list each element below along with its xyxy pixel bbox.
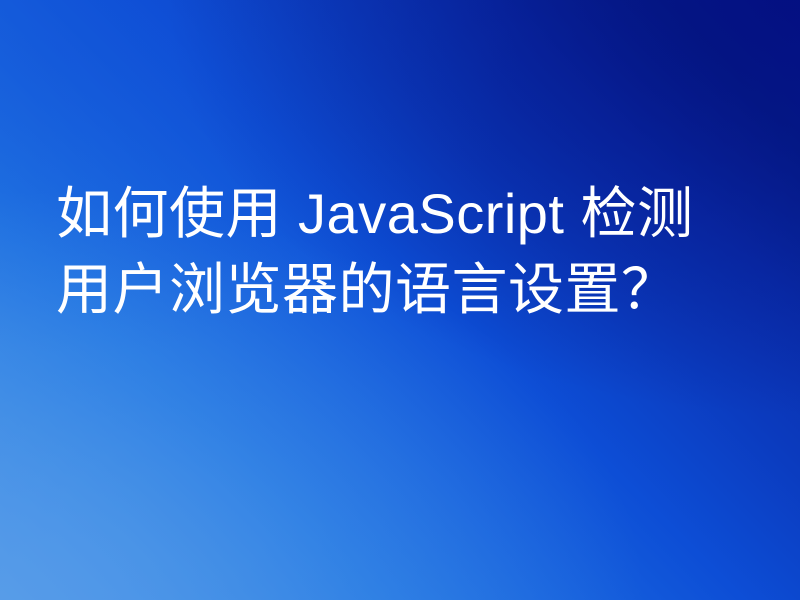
banner-content: 如何使用 JavaScript 检测用户浏览器的语言设置？ [56, 176, 704, 328]
banner-card: 如何使用 JavaScript 检测用户浏览器的语言设置？ [0, 0, 800, 600]
banner-title: 如何使用 JavaScript 检测用户浏览器的语言设置？ [56, 176, 704, 328]
